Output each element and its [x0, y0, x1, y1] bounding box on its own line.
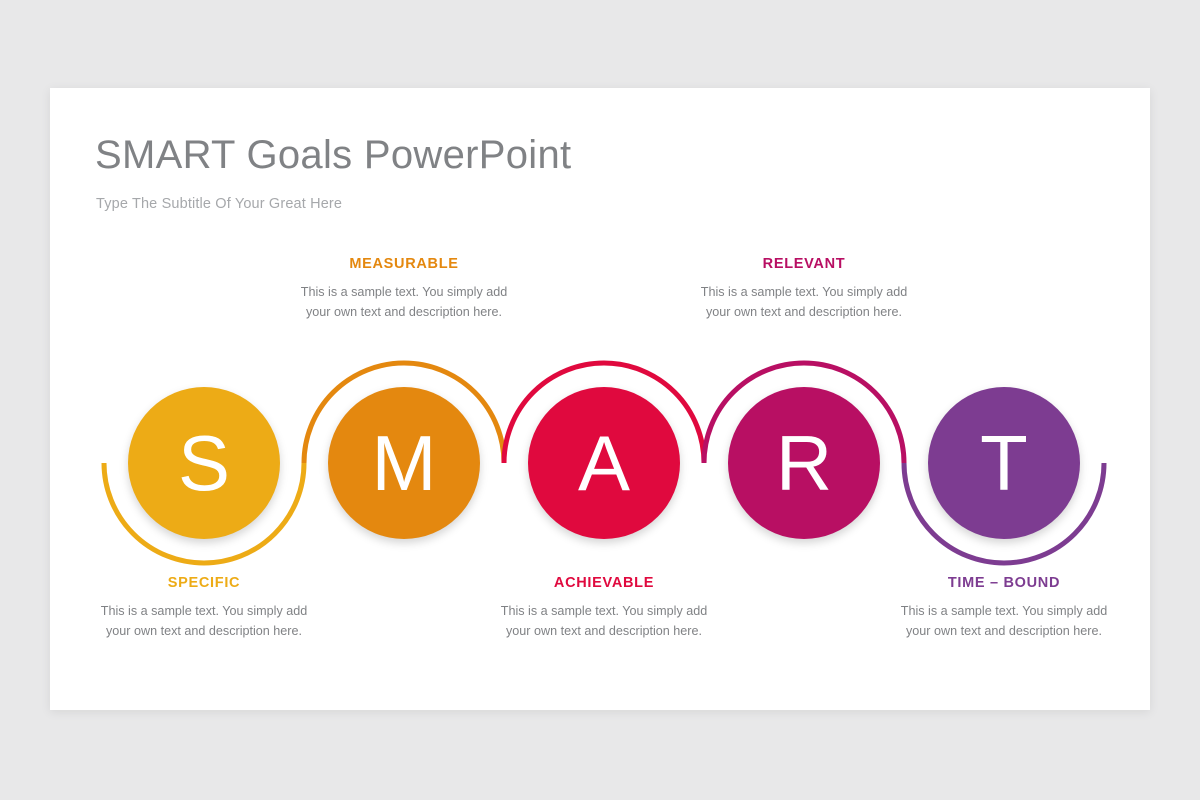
heading-relevant: RELEVANT	[679, 256, 929, 272]
text-block-achievable: ACHIEVABLEThis is a sample text. You sim…	[479, 575, 729, 641]
slide-card: SMART Goals PowerPoint Type The Subtitle…	[50, 88, 1150, 710]
smart-letter: R	[776, 424, 832, 502]
body-measurable: This is a sample text. You simply add yo…	[279, 283, 529, 322]
text-block-relevant: RELEVANTThis is a sample text. You simpl…	[679, 256, 929, 322]
heading-achievable: ACHIEVABLE	[479, 575, 729, 591]
heading-specific: SPECIFIC	[79, 575, 329, 591]
body-achievable: This is a sample text. You simply add yo…	[479, 602, 729, 641]
body-relevant: This is a sample text. You simply add yo…	[679, 283, 929, 322]
smart-circle-specific[interactable]: S	[128, 387, 280, 539]
smart-circle-time-bound[interactable]: T	[928, 387, 1080, 539]
smart-circle-measurable[interactable]: M	[328, 387, 480, 539]
smart-circle-relevant[interactable]: R	[728, 387, 880, 539]
text-block-time-bound: TIME – BOUNDThis is a sample text. You s…	[879, 575, 1129, 641]
heading-time-bound: TIME – BOUND	[879, 575, 1129, 591]
text-block-specific: SPECIFICThis is a sample text. You simpl…	[79, 575, 329, 641]
smart-letter: S	[178, 424, 230, 502]
smart-circle-achievable[interactable]: A	[528, 387, 680, 539]
body-time-bound: This is a sample text. You simply add yo…	[879, 602, 1129, 641]
smart-letter: A	[578, 424, 630, 502]
heading-measurable: MEASURABLE	[279, 256, 529, 272]
smart-letter: M	[372, 424, 437, 502]
smart-goals-diagram: SMART SPECIFICThis is a sample text. You…	[50, 88, 1150, 710]
body-specific: This is a sample text. You simply add yo…	[79, 602, 329, 641]
smart-letter: T	[980, 424, 1028, 502]
text-block-measurable: MEASURABLEThis is a sample text. You sim…	[279, 256, 529, 322]
